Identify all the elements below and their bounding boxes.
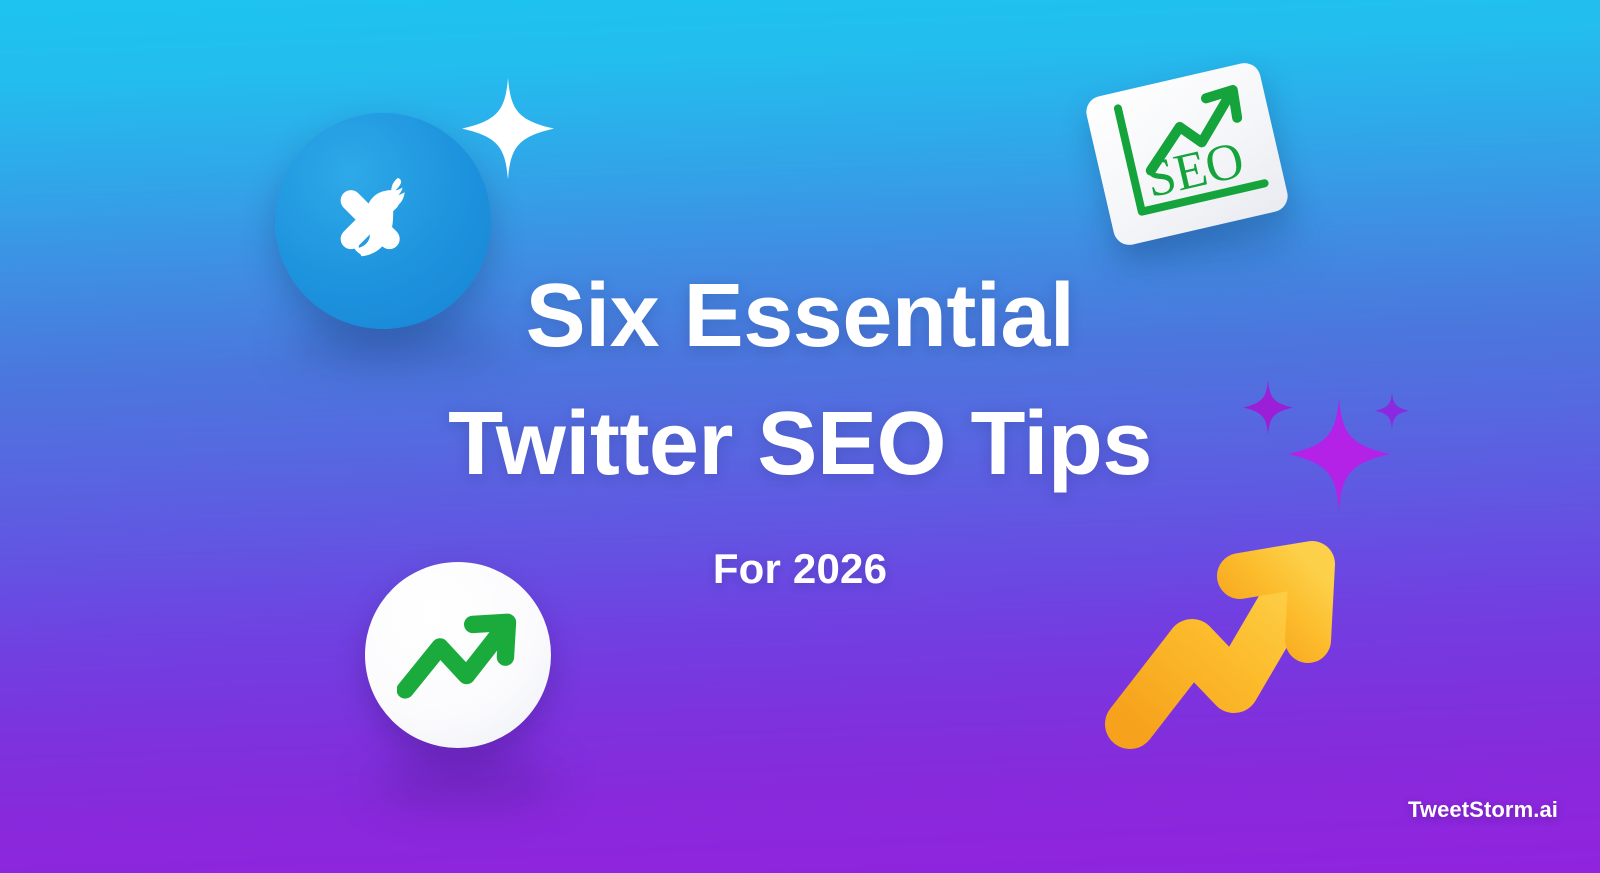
headline-line-1: Six Essential — [0, 252, 1600, 380]
headline-line-2: Twitter SEO Tips — [0, 380, 1600, 508]
white-sparkle-icon — [462, 78, 554, 178]
page-subtitle: For 2026 — [0, 543, 1600, 595]
seo-card: SEO — [1083, 60, 1291, 248]
poster-canvas: SEO Six Essential Twitter — [0, 0, 1600, 873]
brand-watermark: TweetStorm.ai — [1408, 797, 1558, 823]
seo-card-label: SEO — [1141, 131, 1250, 209]
trend-circle-shadow — [372, 762, 558, 802]
page-title: Six Essential Twitter SEO Tips — [0, 252, 1600, 508]
